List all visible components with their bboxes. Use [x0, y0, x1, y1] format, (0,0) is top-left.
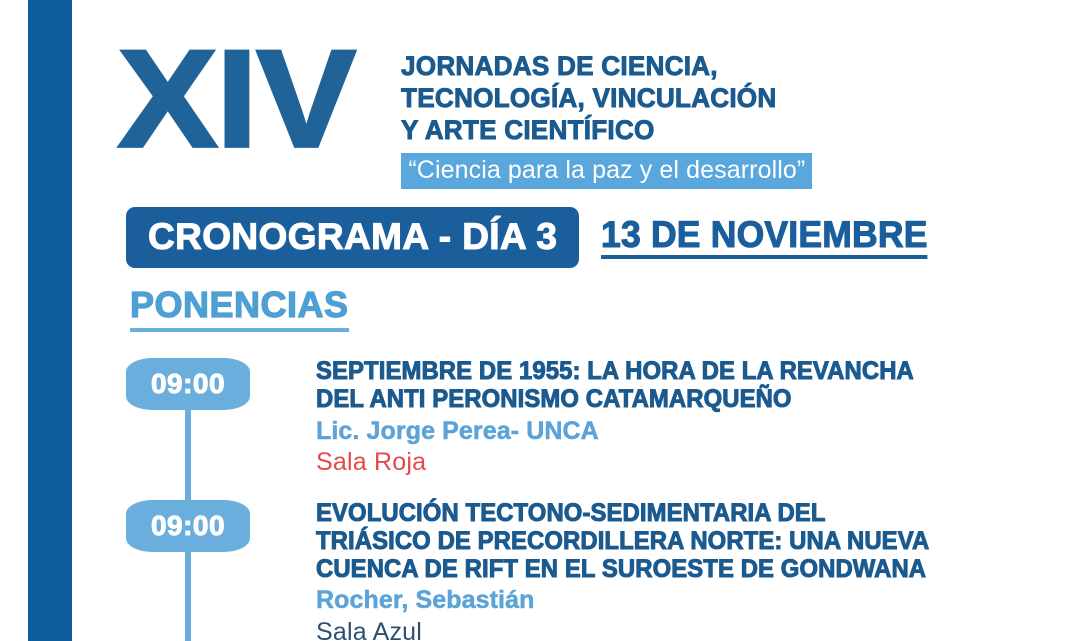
cronograma-poster: XIV JORNADAS DE CIENCIA, TECNOLOGÍA, VIN…: [0, 0, 1080, 641]
talk-title-line: SEPTIEMBRE DE 1955: LA HORA DE LA REVANC…: [316, 358, 914, 386]
schedule-entry: 09:00 EVOLUCIÓN TECTONO-SEDIMENTARIA DEL…: [126, 500, 958, 641]
talk-speaker: Rocher, Sebastián: [316, 586, 958, 615]
time-badge: 09:00: [126, 500, 250, 552]
talk-title-line: CUENCA DE RIFT EN EL SUROESTE DE GONDWAN…: [316, 556, 929, 584]
edition-number: XIV: [118, 34, 355, 167]
section-heading-ponencias: PONENCIAS: [130, 287, 349, 332]
event-title-line-1: JORNADAS DE CIENCIA,: [401, 50, 800, 82]
event-slogan: “Ciencia para la paz y el desarrollo”: [401, 153, 812, 189]
event-title-line-2: TECNOLOGÍA, VINCULACIÓN: [401, 82, 800, 114]
schedule-entry: 09:00 SEPTIEMBRE DE 1955: LA HORA DE LA …: [126, 358, 942, 477]
schedule-banner: CRONOGRAMA - DÍA 3 13 DE NOVIEMBRE: [126, 207, 942, 268]
talk-title-line: TRIÁSICO DE PRECORDILLERA NORTE: UNA NUE…: [316, 528, 929, 556]
talk-title-line: DEL ANTI PERONISMO CATAMARQUEÑO: [316, 386, 914, 414]
talk-title-line: EVOLUCIÓN TECTONO-SEDIMENTARIA DEL: [316, 500, 929, 528]
event-title-line-3: Y ARTE CIENTÍFICO: [401, 114, 800, 146]
entry-details: SEPTIEMBRE DE 1955: LA HORA DE LA REVANC…: [316, 358, 942, 477]
left-accent-bar: [28, 0, 72, 641]
entry-details: EVOLUCIÓN TECTONO-SEDIMENTARIA DEL TRIÁS…: [316, 500, 958, 641]
schedule-date: 13 DE NOVIEMBRE: [601, 216, 928, 259]
talk-room: Sala Roja: [316, 447, 942, 477]
time-badge: 09:00: [126, 358, 250, 410]
talk-speaker: Lic. Jorge Perea- UNCA: [316, 417, 942, 446]
poster-header: XIV JORNADAS DE CIENCIA, TECNOLOGÍA, VIN…: [118, 38, 1048, 189]
talk-room: Sala Azul: [316, 617, 958, 641]
event-title-block: JORNADAS DE CIENCIA, TECNOLOGÍA, VINCULA…: [401, 50, 812, 189]
schedule-day-badge: CRONOGRAMA - DÍA 3: [126, 207, 579, 268]
